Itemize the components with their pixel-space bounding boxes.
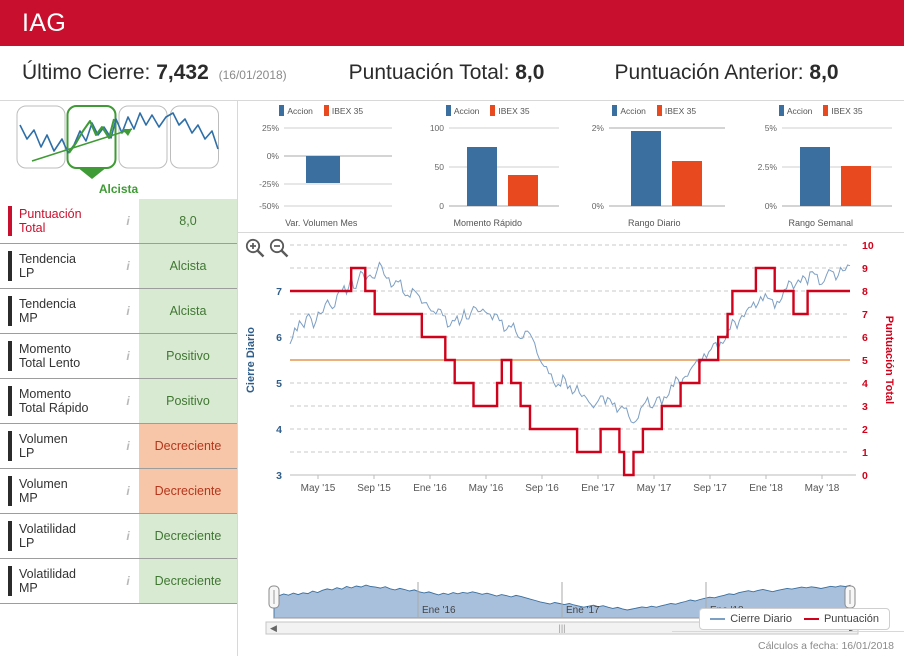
footer-divider bbox=[672, 631, 904, 632]
indicator-name-line2: MP bbox=[19, 491, 68, 505]
indicator-value: Alcista bbox=[139, 289, 237, 333]
trend-stages-icon bbox=[16, 105, 222, 179]
indicator-name-line1: Puntuación bbox=[19, 207, 82, 221]
info-icon[interactable]: i bbox=[117, 199, 139, 243]
zoom-out-icon[interactable] bbox=[268, 237, 290, 259]
indicator-row-tendencia-mp[interactable]: TendenciaMP i Alcista bbox=[0, 289, 237, 334]
total-score-block: Puntuación Total: 8,0 bbox=[349, 61, 545, 85]
ytick-0: 25% bbox=[262, 123, 279, 133]
left-ytick: 7 bbox=[276, 286, 282, 298]
legend-item-ibex: IBEX 35 bbox=[657, 105, 696, 116]
indicator-row-volatilidad-lp[interactable]: VolatilidadLP i Decreciente bbox=[0, 514, 237, 559]
range-navigator[interactable]: Ene '16Ene '17Ene '18◀▶||| Cierre Diario… bbox=[238, 578, 904, 636]
xtick-label: Ene '17 bbox=[581, 483, 615, 494]
indicator-name-line1: Momento bbox=[19, 342, 80, 356]
right-ytick: 5 bbox=[862, 355, 868, 367]
left-ytick: 3 bbox=[276, 470, 282, 482]
cierre-line-icon bbox=[710, 618, 725, 620]
legend-label: Accion bbox=[787, 106, 813, 116]
ticker-symbol: IAG bbox=[22, 9, 66, 38]
indicator-name-line1: Volatilidad bbox=[19, 522, 76, 536]
indicator-value: Alcista bbox=[139, 244, 237, 288]
indicator-row-volatilidad-mp[interactable]: VolatilidadMP i Decreciente bbox=[0, 559, 237, 604]
last-close-value: 7,432 bbox=[156, 61, 209, 84]
mini-plot: 100 50 0 bbox=[413, 120, 563, 217]
right-ytick: 3 bbox=[862, 401, 868, 413]
left-axis-title: Cierre Diario bbox=[245, 327, 257, 393]
indicator-name-line2: Total Lento bbox=[19, 356, 80, 370]
right-ytick: 10 bbox=[862, 240, 874, 252]
indicator-value: Positivo bbox=[139, 334, 237, 378]
legend-label: Accion bbox=[454, 106, 480, 116]
xtick-label: May '15 bbox=[301, 483, 336, 494]
indicator-name-line2: Total bbox=[19, 221, 82, 235]
ytick-0: 2% bbox=[592, 123, 605, 133]
info-icon[interactable]: i bbox=[117, 559, 139, 603]
indicator-value: Decreciente bbox=[139, 514, 237, 558]
xtick-label: May '16 bbox=[469, 483, 504, 494]
right-ytick: 7 bbox=[862, 309, 868, 321]
indicator-value: Decreciente bbox=[139, 469, 237, 513]
mini-chart-caption: Momento Rápido bbox=[453, 218, 522, 228]
indicator-row-volumen-lp[interactable]: VolumenLP i Decreciente bbox=[0, 424, 237, 469]
puntuacion-series bbox=[290, 268, 850, 475]
main-chart-svg[interactable]: 109876543210876543Cierre DiarioPuntuació… bbox=[238, 233, 902, 578]
puntuacion-line-icon bbox=[804, 618, 819, 620]
indicator-name: TendenciaLP bbox=[12, 244, 117, 288]
indicator-name-line1: Volumen bbox=[19, 477, 68, 491]
indicator-name: VolumenLP bbox=[12, 424, 117, 468]
legend-item-accion: Accion bbox=[279, 105, 313, 116]
legend-label: Puntuación bbox=[824, 613, 879, 625]
legend-item-cierre-diario[interactable]: Cierre Diario bbox=[710, 613, 792, 625]
trend-widget: Alcista bbox=[0, 101, 237, 199]
right-axis-title: Puntuación Total bbox=[883, 316, 895, 404]
ytick-2: 0% bbox=[764, 201, 777, 211]
right-ytick: 1 bbox=[862, 447, 868, 459]
ytick-0: 100 bbox=[430, 123, 444, 133]
indicator-value: Positivo bbox=[139, 379, 237, 423]
indicator-name: VolatilidadLP bbox=[12, 514, 117, 558]
total-score-label: Puntuación Total: bbox=[349, 61, 510, 84]
indicator-name-line2: MP bbox=[19, 311, 76, 325]
previous-score-label: Puntuación Anterior: bbox=[614, 61, 803, 84]
indicator-name-line2: Total Rápido bbox=[19, 401, 89, 415]
legend-label: IBEX 35 bbox=[831, 106, 862, 116]
ytick-2: -25% bbox=[259, 179, 279, 189]
indicator-name: VolumenMP bbox=[12, 469, 117, 513]
indicator-value: 8,0 bbox=[139, 199, 237, 243]
legend-item-accion: Accion bbox=[779, 105, 813, 116]
legend-item-ibex: IBEX 35 bbox=[823, 105, 862, 116]
mini-chart-caption: Var. Volumen Mes bbox=[285, 218, 357, 228]
mini-charts-row: Accion IBEX 35 25% 0% -25% -50% bbox=[238, 101, 904, 233]
trend-diagram bbox=[16, 105, 222, 179]
mini-plot: 25% 0% -25% -50% bbox=[246, 120, 396, 217]
bar-accion bbox=[467, 147, 497, 206]
bar-chart-svg: 100 50 0 bbox=[413, 120, 563, 212]
charts-area: Accion IBEX 35 25% 0% -25% -50% bbox=[238, 101, 904, 656]
ytick-1: 0% bbox=[267, 151, 280, 161]
bar-accion bbox=[631, 131, 661, 206]
trend-label: Alcista bbox=[99, 182, 138, 196]
xtick-label: May '17 bbox=[637, 483, 672, 494]
mini-plot: 5% 2.5% 0% bbox=[746, 120, 896, 217]
scroll-grip-icon[interactable]: ||| bbox=[558, 623, 565, 633]
indicator-name: PuntuaciónTotal bbox=[12, 199, 117, 243]
xtick-label: Ene '16 bbox=[413, 483, 447, 494]
navigator-tick-label: Ene '16 bbox=[422, 605, 456, 616]
accion-swatch-icon bbox=[779, 105, 784, 116]
ytick-1: 50 bbox=[434, 162, 444, 172]
mini-legend: Accion IBEX 35 bbox=[279, 105, 363, 116]
bar-ibex bbox=[508, 175, 538, 206]
mini-chart-var-volumen-mes: Accion IBEX 35 25% 0% -25% -50% bbox=[238, 105, 405, 232]
indicator-row-momento-total-lento[interactable]: MomentoTotal Lento i Positivo bbox=[0, 334, 237, 379]
xtick-label: Sep '15 bbox=[357, 483, 391, 494]
legend-label: Accion bbox=[287, 106, 313, 116]
ytick-1: 2.5% bbox=[757, 162, 777, 172]
indicator-row-volumen-mp[interactable]: VolumenMP i Decreciente bbox=[0, 469, 237, 514]
accion-swatch-icon bbox=[279, 105, 284, 116]
ytick-0: 5% bbox=[764, 123, 777, 133]
summary-bar: Último Cierre: 7,432 (16/01/2018) Puntua… bbox=[0, 46, 904, 101]
indicator-name-line2: LP bbox=[19, 536, 76, 550]
right-ytick: 6 bbox=[862, 332, 868, 344]
info-icon[interactable]: i bbox=[117, 334, 139, 378]
previous-score-value: 8,0 bbox=[809, 61, 838, 84]
chart-legend[interactable]: Cierre Diario Puntuación bbox=[699, 608, 890, 630]
footer-note: Cálculos a fecha: 16/01/2018 bbox=[758, 640, 894, 652]
indicator-name: MomentoTotal Lento bbox=[12, 334, 117, 378]
main-price-chart: 109876543210876543Cierre DiarioPuntuació… bbox=[238, 233, 904, 578]
info-icon[interactable]: i bbox=[117, 469, 139, 513]
ibex-swatch-icon bbox=[324, 105, 329, 116]
indicator-row-tendencia-lp[interactable]: TendenciaLP i Alcista bbox=[0, 244, 237, 289]
info-icon[interactable]: i bbox=[117, 379, 139, 423]
ibex-swatch-icon bbox=[823, 105, 828, 116]
indicator-name: VolatilidadMP bbox=[12, 559, 117, 603]
indicator-value: Decreciente bbox=[139, 424, 237, 468]
legend-label: Cierre Diario bbox=[730, 613, 792, 625]
left-ytick: 5 bbox=[276, 378, 282, 390]
indicator-name-line2: MP bbox=[19, 581, 76, 595]
right-ytick: 8 bbox=[862, 286, 868, 298]
last-close-date: (16/01/2018) bbox=[219, 68, 287, 82]
right-ytick: 9 bbox=[862, 263, 868, 275]
bar-chart-svg: 5% 2.5% 0% bbox=[746, 120, 896, 212]
total-score-value: 8,0 bbox=[515, 61, 544, 84]
legend-label: IBEX 35 bbox=[332, 106, 363, 116]
indicator-name-line1: Volatilidad bbox=[19, 567, 76, 581]
right-ytick: 4 bbox=[862, 378, 868, 390]
scroll-left-arrow-icon[interactable]: ◀ bbox=[270, 623, 277, 633]
bar-ibex bbox=[672, 161, 702, 206]
indicator-value: Decreciente bbox=[139, 559, 237, 603]
navigator-tick-label: Ene '17 bbox=[566, 605, 600, 616]
app-title-bar: IAG bbox=[0, 0, 904, 46]
last-close-block: Último Cierre: 7,432 (16/01/2018) bbox=[0, 61, 287, 85]
main-body: Alcista PuntuaciónTotal i 8,0 TendenciaL… bbox=[0, 101, 904, 656]
legend-label: IBEX 35 bbox=[498, 106, 529, 116]
bar-chart-svg: 2% 0% bbox=[579, 120, 729, 212]
left-ytick: 6 bbox=[276, 332, 282, 344]
mini-legend: Accion IBEX 35 bbox=[446, 105, 530, 116]
mini-chart-rango-semanal: Accion IBEX 35 5% 2.5% 0% Rango bbox=[738, 105, 904, 232]
cierre-diario-series bbox=[290, 263, 850, 423]
indicator-name-line2: LP bbox=[19, 266, 76, 280]
mini-legend: Accion IBEX 35 bbox=[779, 105, 863, 116]
indicator-row-puntuacion-total[interactable]: PuntuaciónTotal i 8,0 bbox=[0, 199, 237, 244]
indicator-sidebar: Alcista PuntuaciónTotal i 8,0 TendenciaL… bbox=[0, 101, 238, 656]
zoom-in-icon[interactable] bbox=[244, 237, 266, 259]
mini-chart-momento-rapido: Accion IBEX 35 100 50 0 Momento bbox=[405, 105, 572, 232]
legend-item-accion: Accion bbox=[446, 105, 480, 116]
indicator-name-line1: Tendencia bbox=[19, 252, 76, 266]
legend-item-puntuacion[interactable]: Puntuación bbox=[804, 613, 879, 625]
bar-ibex bbox=[841, 166, 871, 206]
info-icon[interactable]: i bbox=[117, 289, 139, 333]
xtick-label: Sep '17 bbox=[693, 483, 727, 494]
ytick-1: 0% bbox=[592, 201, 605, 211]
bar-accion bbox=[306, 156, 340, 183]
info-icon[interactable]: i bbox=[117, 424, 139, 468]
xtick-label: Sep '16 bbox=[525, 483, 559, 494]
indicator-name-line1: Volumen bbox=[19, 432, 68, 446]
previous-score-block: Puntuación Anterior: 8,0 bbox=[614, 61, 838, 85]
last-close-label: Último Cierre: bbox=[22, 61, 150, 84]
legend-label: IBEX 35 bbox=[665, 106, 696, 116]
legend-item-ibex: IBEX 35 bbox=[490, 105, 529, 116]
indicator-name: TendenciaMP bbox=[12, 289, 117, 333]
bar-chart-svg: 25% 0% -25% -50% bbox=[246, 120, 396, 212]
indicator-name-line1: Tendencia bbox=[19, 297, 76, 311]
ibex-swatch-icon bbox=[490, 105, 495, 116]
right-ytick: 2 bbox=[862, 424, 868, 436]
indicator-name-line2: LP bbox=[19, 446, 68, 460]
mini-chart-rango-diario: Accion IBEX 35 2% 0% Rango Diario bbox=[571, 105, 738, 232]
xtick-label: Ene '18 bbox=[749, 483, 783, 494]
ibex-swatch-icon bbox=[657, 105, 662, 116]
legend-item-ibex: IBEX 35 bbox=[324, 105, 363, 116]
zoom-controls bbox=[244, 237, 290, 259]
accion-swatch-icon bbox=[446, 105, 451, 116]
legend-item-accion: Accion bbox=[612, 105, 646, 116]
mini-chart-caption: Rango Semanal bbox=[788, 218, 853, 228]
indicator-row-momento-total-rapido[interactable]: MomentoTotal Rápido i Positivo bbox=[0, 379, 237, 424]
mini-chart-caption: Rango Diario bbox=[628, 218, 681, 228]
bar-accion bbox=[800, 147, 830, 206]
accion-swatch-icon bbox=[612, 105, 617, 116]
left-ytick: 4 bbox=[276, 424, 282, 436]
info-icon[interactable]: i bbox=[117, 244, 139, 288]
xtick-label: May '18 bbox=[805, 483, 840, 494]
indicator-list: PuntuaciónTotal i 8,0 TendenciaLP i Alci… bbox=[0, 199, 237, 604]
indicator-name: MomentoTotal Rápido bbox=[12, 379, 117, 423]
info-icon[interactable]: i bbox=[117, 514, 139, 558]
mini-plot: 2% 0% bbox=[579, 120, 729, 217]
ytick-2: 0 bbox=[439, 201, 444, 211]
indicator-name-line1: Momento bbox=[19, 387, 89, 401]
right-ytick: 0 bbox=[862, 470, 868, 482]
mini-legend: Accion IBEX 35 bbox=[612, 105, 696, 116]
legend-label: Accion bbox=[620, 106, 646, 116]
ytick-3: -50% bbox=[259, 201, 279, 211]
